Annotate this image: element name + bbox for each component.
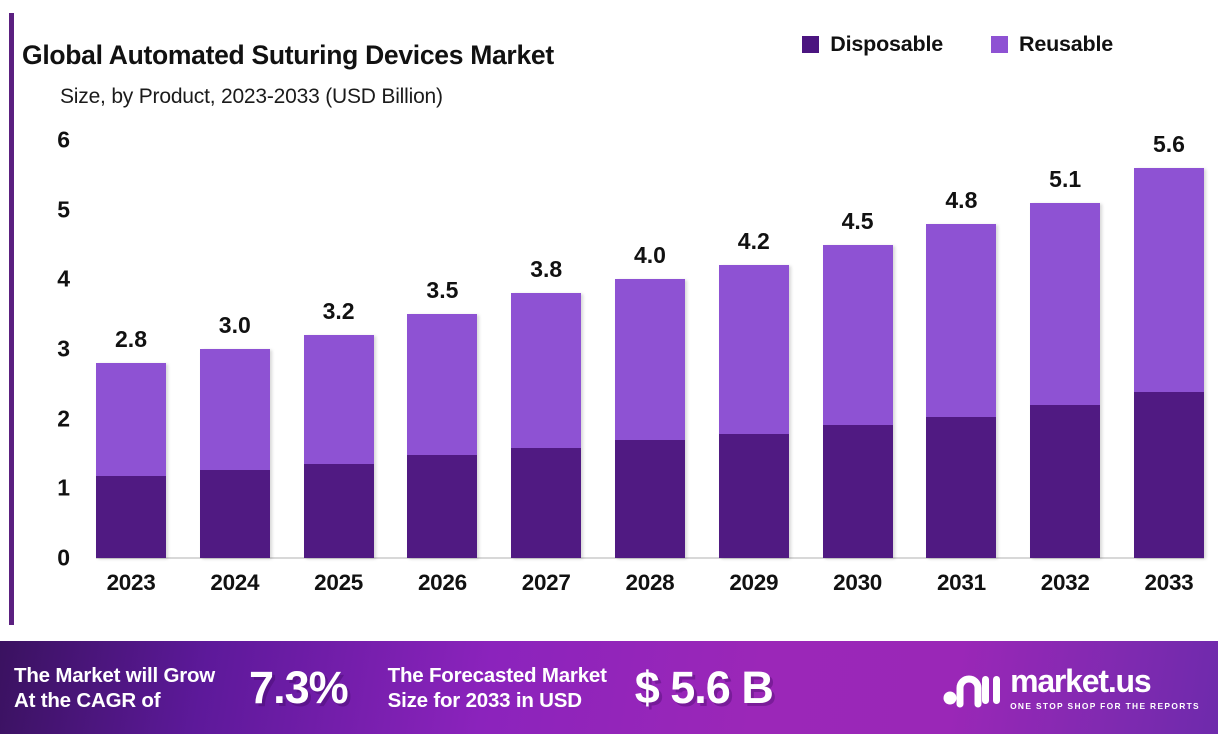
- market-us-logo[interactable]: market.us ONE STOP SHOP FOR THE REPORTS: [942, 665, 1200, 711]
- bar-group-2023[interactable]: 2.8: [96, 140, 166, 558]
- x-axis-label-2024: 2024: [200, 570, 270, 596]
- bar-stack[interactable]: [823, 245, 893, 559]
- bar-stack[interactable]: [511, 293, 581, 558]
- bar-segment-disposable[interactable]: [615, 440, 685, 558]
- x-axis-label-2026: 2026: [407, 570, 477, 596]
- y-axis-tick-1: 1: [30, 475, 70, 502]
- bar-value-label: 4.8: [945, 187, 977, 214]
- cagr-caption-line1: The Market will Grow: [14, 663, 215, 688]
- logo-tagline: ONE STOP SHOP FOR THE REPORTS: [1010, 701, 1200, 711]
- x-axis-label-2032: 2032: [1030, 570, 1100, 596]
- bar-group-2024[interactable]: 3.0: [200, 140, 270, 558]
- plot-area: 0123456 2.83.03.23.53.84.04.24.54.85.15.…: [96, 140, 1204, 558]
- bar-segment-reusable[interactable]: [511, 293, 581, 448]
- bar-group-2031[interactable]: 4.8: [926, 140, 996, 558]
- x-axis-labels: 2023202420252026202720282029203020312032…: [96, 570, 1204, 596]
- cagr-caption-line2: At the CAGR of: [14, 688, 215, 713]
- x-axis-label-2025: 2025: [304, 570, 374, 596]
- bar-segment-disposable[interactable]: [1134, 392, 1204, 558]
- bar-segment-reusable[interactable]: [407, 314, 477, 455]
- bottom-banner: The Market will Grow At the CAGR of 7.3%…: [0, 641, 1218, 734]
- bar-segment-reusable[interactable]: [926, 224, 996, 417]
- cagr-caption: The Market will Grow At the CAGR of: [14, 663, 215, 713]
- bar-group-2027[interactable]: 3.8: [511, 140, 581, 558]
- y-axis-tick-4: 4: [30, 266, 70, 293]
- bar-stack[interactable]: [304, 335, 374, 558]
- y-axis-tick-6: 6: [30, 127, 70, 154]
- bar-segment-disposable[interactable]: [304, 464, 374, 558]
- bar-value-label: 3.5: [426, 277, 458, 304]
- bar-segment-disposable[interactable]: [407, 455, 477, 558]
- page-subtitle: Size, by Product, 2023-2033 (USD Billion…: [60, 85, 443, 109]
- legend-label: Reusable: [1019, 32, 1113, 57]
- chart-page: Global Automated Suturing Devices Market…: [0, 0, 1218, 734]
- bar-segment-disposable[interactable]: [926, 417, 996, 558]
- x-axis-label-2033: 2033: [1134, 570, 1204, 596]
- bar-segment-reusable[interactable]: [823, 245, 893, 425]
- bar-group-2032[interactable]: 5.1: [1030, 140, 1100, 558]
- legend-label: Disposable: [830, 32, 943, 57]
- legend-item-disposable[interactable]: Disposable: [802, 32, 943, 57]
- x-axis-label-2028: 2028: [615, 570, 685, 596]
- logo-text-block: market.us ONE STOP SHOP FOR THE REPORTS: [1010, 665, 1200, 711]
- cagr-value: 7.3%: [249, 662, 348, 714]
- x-axis-label-2023: 2023: [96, 570, 166, 596]
- y-axis-tick-3: 3: [30, 336, 70, 363]
- bar-group-2033[interactable]: 5.6: [1134, 140, 1204, 558]
- bar-segment-disposable[interactable]: [1030, 405, 1100, 558]
- square-swatch-icon: [802, 36, 819, 53]
- bar-group-2030[interactable]: 4.5: [823, 140, 893, 558]
- x-axis-label-2031: 2031: [926, 570, 996, 596]
- bar-value-label: 4.0: [634, 242, 666, 269]
- bar-segment-reusable[interactable]: [719, 265, 789, 434]
- bar-segment-reusable[interactable]: [615, 279, 685, 439]
- y-axis-tick-5: 5: [30, 196, 70, 223]
- bar-group-2029[interactable]: 4.2: [719, 140, 789, 558]
- bar-group-2025[interactable]: 3.2: [304, 140, 374, 558]
- forecast-value: $ 5.6 B: [635, 662, 773, 714]
- bar-segment-disposable[interactable]: [96, 476, 166, 558]
- bar-stack[interactable]: [926, 224, 996, 558]
- legend-item-reusable[interactable]: Reusable: [991, 32, 1113, 57]
- bar-segment-disposable[interactable]: [511, 448, 581, 558]
- page-title: Global Automated Suturing Devices Market: [22, 40, 554, 71]
- bar-value-label: 3.8: [530, 256, 562, 283]
- bar-series-group: 2.83.03.23.53.84.04.24.54.85.15.6: [96, 140, 1204, 558]
- bar-segment-reusable[interactable]: [1134, 168, 1204, 392]
- chart-legend: DisposableReusable: [802, 32, 1113, 57]
- bar-segment-disposable[interactable]: [200, 470, 270, 558]
- bar-stack[interactable]: [1134, 168, 1204, 558]
- y-axis-tick-2: 2: [30, 405, 70, 432]
- logo-wordmark: market.us: [1010, 665, 1150, 697]
- bar-segment-disposable[interactable]: [823, 425, 893, 558]
- bar-value-label: 5.6: [1153, 131, 1185, 158]
- forecast-caption-line2: Size for 2033 in USD: [388, 688, 607, 713]
- bar-segment-disposable[interactable]: [719, 434, 789, 558]
- bar-stack[interactable]: [719, 265, 789, 558]
- bar-stack[interactable]: [615, 279, 685, 558]
- bar-value-label: 4.2: [738, 228, 770, 255]
- forecast-caption-line1: The Forecasted Market: [388, 663, 607, 688]
- bar-segment-reusable[interactable]: [200, 349, 270, 470]
- bar-value-label: 4.5: [842, 208, 874, 235]
- bar-value-label: 2.8: [115, 326, 147, 353]
- bar-value-label: 3.2: [323, 298, 355, 325]
- bar-segment-reusable[interactable]: [96, 363, 166, 476]
- x-axis-label-2027: 2027: [511, 570, 581, 596]
- y-axis-tick-0: 0: [30, 545, 70, 572]
- x-axis-label-2030: 2030: [823, 570, 893, 596]
- bar-stack[interactable]: [96, 363, 166, 558]
- bar-segment-reusable[interactable]: [1030, 203, 1100, 406]
- bar-value-label: 3.0: [219, 312, 251, 339]
- bar-stack[interactable]: [1030, 203, 1100, 558]
- bar-stack[interactable]: [200, 349, 270, 558]
- square-swatch-icon: [991, 36, 1008, 53]
- bar-segment-reusable[interactable]: [304, 335, 374, 464]
- market-us-logo-icon: [942, 668, 1000, 708]
- bar-value-label: 5.1: [1049, 166, 1081, 193]
- bar-stack[interactable]: [407, 314, 477, 558]
- x-axis-label-2029: 2029: [719, 570, 789, 596]
- forecast-caption: The Forecasted Market Size for 2033 in U…: [388, 663, 607, 713]
- bar-group-2026[interactable]: 3.5: [407, 140, 477, 558]
- bar-group-2028[interactable]: 4.0: [615, 140, 685, 558]
- left-accent-strip: [9, 13, 14, 625]
